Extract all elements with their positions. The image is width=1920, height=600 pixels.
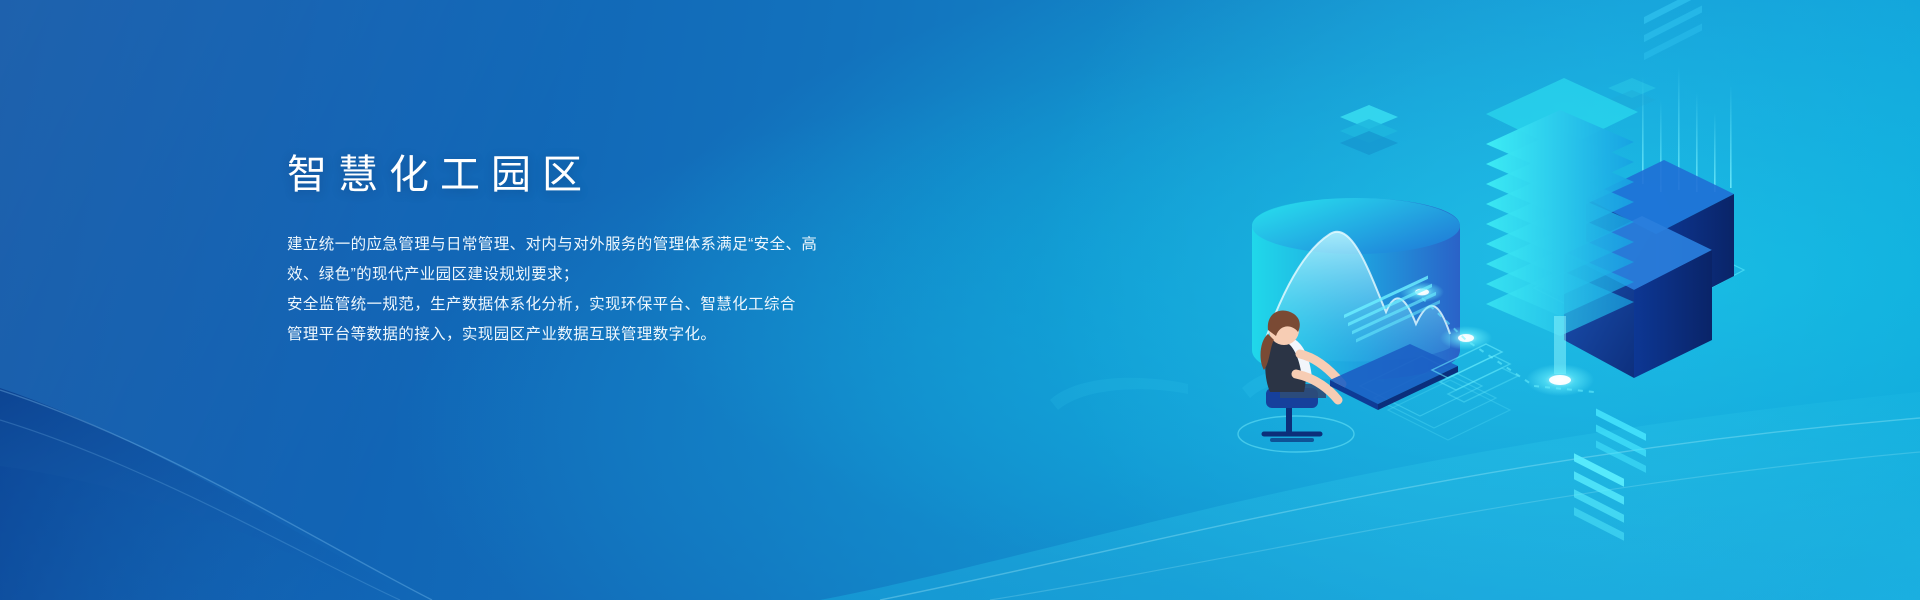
description-line-3: 安全监管统一规范，生产数据体系化分析，实现环保平台、智慧化工综合 <box>287 290 927 320</box>
page-title: 智慧化工园区 <box>287 150 927 200</box>
description-line-1: 建立统一的应急管理与日常管理、对内与对外服务的管理体系满足“安全、高 <box>287 230 927 260</box>
description-line-2: 效、绿色”的现代产业园区建设规划要求； <box>287 260 927 290</box>
description-line-4: 管理平台等数据的接入，实现园区产业数据互联管理数字化。 <box>287 320 927 350</box>
floating-ribbon-decoration-2 <box>1044 366 1194 418</box>
hero-description: 建立统一的应急管理与日常管理、对内与对外服务的管理体系满足“安全、高 效、绿色”… <box>287 230 927 350</box>
chair-post <box>1286 404 1292 432</box>
hero-banner: 智慧化工园区 建立统一的应急管理与日常管理、对内与对外服务的管理体系满足“安全、… <box>0 0 1920 600</box>
isometric-scene <box>1234 48 1754 468</box>
glowing-node <box>1526 364 1594 396</box>
hero-illustration <box>1234 48 1754 468</box>
hero-copy: 智慧化工园区 建立统一的应急管理与日常管理、对内与对外服务的管理体系满足“安全、… <box>287 150 927 350</box>
glowing-node-mid <box>1440 326 1492 350</box>
